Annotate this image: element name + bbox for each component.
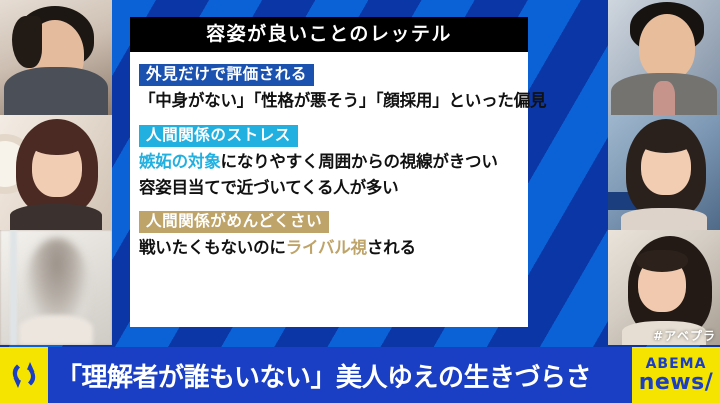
thumb-hair-side [12,16,42,68]
thumb-bangs [639,131,693,153]
text-run: される [367,238,416,257]
logo-news-text: news/ [639,372,714,394]
participant-left-3[interactable] [0,230,112,345]
recycle-icon [0,347,48,403]
participant-right-2[interactable] [608,115,720,230]
card-title: 容姿が良いことのレッテル [130,17,528,52]
text-run: 容姿目当てで近づいてくる人が多い [139,178,398,197]
participant-right-3[interactable]: #アベプラ [608,230,720,345]
thumb-bangs [636,250,688,272]
card-block-2: 人間関係のストレス 嫉妬の対象になりやすく周囲からの視線がきつい 容姿目当てで近… [139,125,519,199]
thumb-torso [621,208,707,230]
thumb-bangs [30,131,84,155]
abema-news-logo[interactable]: ABEMA news/ [632,347,720,403]
card-block-2-line-2: 容姿目当てで近づいてくる人が多い [139,177,519,199]
info-card: 容姿が良いことのレッテル 外見だけで評価される 「中身がない」「性格が悪そう」「… [130,17,528,327]
text-run-highlight: 嫉妬の対象 [139,152,221,171]
thumb-prop-bar [10,230,17,345]
participant-column-right: #アベプラ [608,0,720,345]
card-block-1-line-1: 「中身がない」「性格が悪そう」「顔採用」といった偏見 [139,90,519,112]
card-block-1: 外見だけで評価される 「中身がない」「性格が悪そう」「顔採用」といった偏見 [139,64,519,112]
thumb-torso [19,315,93,345]
card-block-3-line-1: 戦いたくもないのにライバル視される [139,237,519,259]
program-hashtag: #アベプラ [653,327,716,344]
text-run: 「中身がない」「性格が悪そう」「顔採用」といった偏見 [139,91,546,110]
thumb-face [639,14,695,80]
participant-left-1[interactable] [0,0,112,115]
text-run: 戦いたくもないのに [139,238,286,257]
thumb-torso [10,204,102,230]
participant-left-2[interactable] [0,115,112,230]
caption-bar: 「理解者が誰もいない」美人ゆえの生きづらさ ABEMA news/ [0,347,720,403]
caption-text: 「理解者が誰もいない」美人ゆえの生きづらさ [48,347,632,403]
thumb-shirt [653,81,675,115]
text-run-highlight: ライバル視 [286,238,367,257]
logo-abema-text: ABEMA [646,357,707,371]
card-body: 外見だけで評価される 「中身がない」「性格が悪そう」「顔採用」といった偏見 人間… [130,52,528,327]
text-run: になりやすく周囲からの視線がきつい [221,152,498,171]
participant-column-left [0,0,112,345]
thumb-torso [4,67,108,115]
card-block-1-chip: 外見だけで評価される [139,64,314,86]
card-block-3-chip: 人間関係がめんどくさい [139,211,329,233]
participant-right-1[interactable] [608,0,720,115]
broadcast-screen: #アベプラ 容姿が良いことのレッテル 外見だけで評価される 「中身がない」「性格… [0,0,720,403]
card-block-3: 人間関係がめんどくさい 戦いたくもないのにライバル視される [139,211,519,259]
card-block-2-line-1: 嫉妬の対象になりやすく周囲からの視線がきつい [139,151,519,173]
card-block-2-chip: 人間関係のストレス [139,125,298,147]
